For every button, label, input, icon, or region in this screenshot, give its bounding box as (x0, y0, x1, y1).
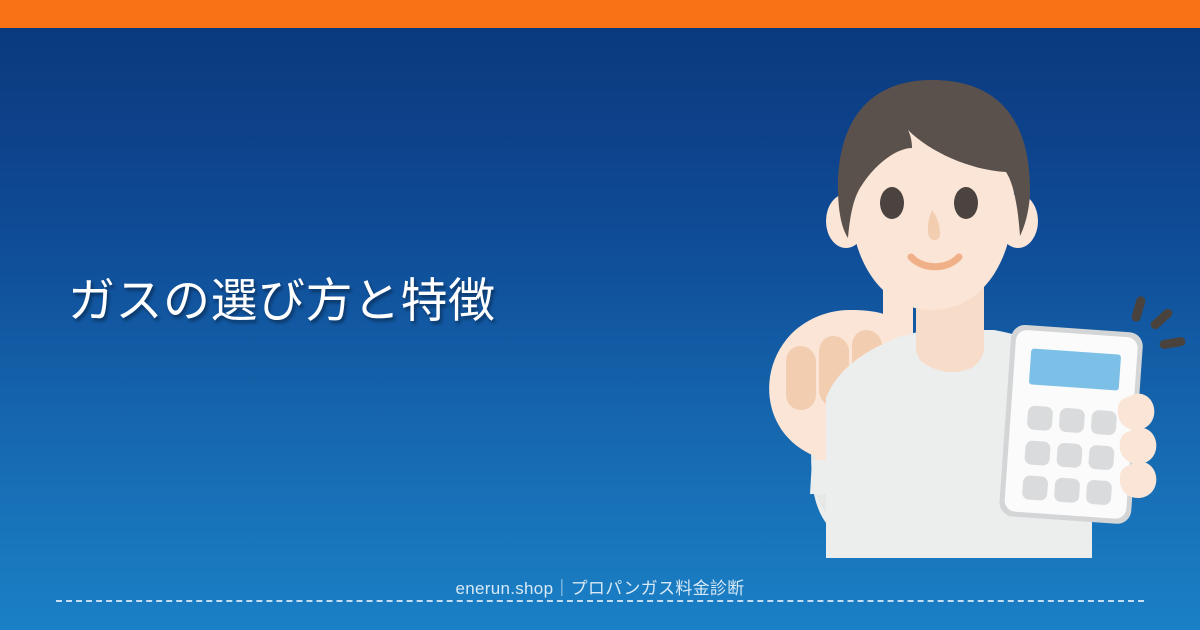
sparkle-dash-2 (1149, 307, 1174, 331)
illustration-pointing-man-with-calculator (640, 78, 1200, 558)
head (826, 80, 1038, 310)
calculator-grip-fingers (1118, 394, 1157, 498)
sparkle-group-icon (1118, 292, 1198, 362)
eye-right (954, 187, 978, 219)
calculator-buttons (1022, 405, 1117, 505)
calculator-display (1029, 348, 1121, 390)
top-accent-bar (0, 0, 1200, 28)
footer-divider (56, 600, 1144, 602)
sparkle-dash-1 (1131, 295, 1147, 322)
sparkle-dash-3 (1159, 336, 1186, 349)
page-title: ガスの選び方と特徴 (68, 272, 496, 329)
footer-brand-text: enerun.shop｜プロパンガス料金診断 (0, 574, 1200, 599)
og-card: ガスの選び方と特徴 (0, 0, 1200, 630)
eye-left (880, 187, 904, 219)
